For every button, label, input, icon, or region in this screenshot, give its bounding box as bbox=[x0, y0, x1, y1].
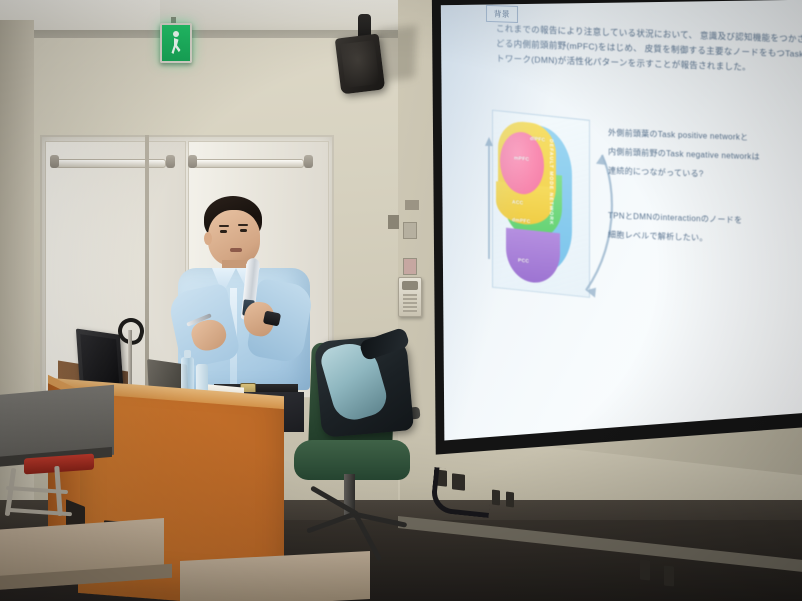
presentation-photo: 背景 これまでの報告により注意している状況において、 意識及び認知機能をつかさ … bbox=[0, 0, 802, 601]
backpack-on-chair[interactable] bbox=[314, 334, 414, 438]
door-knob-a[interactable] bbox=[50, 155, 59, 168]
slide-body-text: これまでの報告により注意している状況において、 意識及び認知機能をつかさ どる内… bbox=[496, 21, 796, 76]
chair-base bbox=[302, 512, 406, 546]
wall-outlet[interactable] bbox=[492, 490, 500, 506]
concentric-ring-diagram: mPFC ACC dmPFC PCC dlPFC DEFAULT MODE NE… bbox=[486, 109, 604, 313]
ceiling-speaker bbox=[335, 34, 385, 95]
eye-right bbox=[240, 229, 247, 232]
diagram-label-ring-3: PCC bbox=[518, 258, 529, 265]
slide-content: 背景 これまでの報告により注意している状況において、 意識及び認知機能をつかさ … bbox=[458, 0, 802, 410]
table-foreground-right bbox=[180, 551, 370, 601]
door-handle-right[interactable] bbox=[194, 159, 304, 168]
door-knob-d[interactable] bbox=[304, 155, 313, 168]
wall-outlet[interactable] bbox=[640, 559, 650, 580]
diagram-axis-arrow bbox=[484, 133, 494, 263]
diagram-label-outer-arc: DEFAULT MODE NETWORK bbox=[548, 139, 554, 226]
wall-outlet[interactable] bbox=[506, 492, 514, 508]
running-person-icon bbox=[171, 31, 182, 55]
door-knob-c[interactable] bbox=[188, 155, 197, 168]
door-knob-b[interactable] bbox=[166, 155, 175, 168]
emergency-exit-sign bbox=[160, 23, 192, 63]
wall-intercom-phone[interactable] bbox=[398, 277, 422, 317]
slide-right-text: 外側前頭葉のTask positive networkと 内側前頭前野のTask… bbox=[608, 123, 802, 251]
door-handle-left[interactable] bbox=[56, 159, 166, 168]
light-switch-lower[interactable] bbox=[403, 258, 417, 275]
table-legs bbox=[6, 466, 92, 520]
light-switch-upper[interactable] bbox=[403, 222, 417, 239]
mouth bbox=[230, 248, 242, 252]
chair-leg bbox=[306, 510, 358, 533]
wall-plate bbox=[388, 215, 399, 229]
projection-screen: 背景 これまでの報告により注意している状況において、 意識及び認知機能をつかさ … bbox=[424, 0, 802, 464]
slide-title-chip: 背景 bbox=[486, 5, 518, 23]
ear bbox=[204, 232, 212, 245]
eyebrow-right bbox=[238, 224, 248, 226]
wall-sign bbox=[405, 200, 419, 210]
diagram-label-ring-1: ACC bbox=[512, 199, 523, 206]
door-seam bbox=[145, 135, 149, 393]
eye-left bbox=[220, 230, 227, 233]
wall-outlet[interactable] bbox=[664, 565, 674, 586]
eyebrow-left bbox=[219, 225, 229, 227]
